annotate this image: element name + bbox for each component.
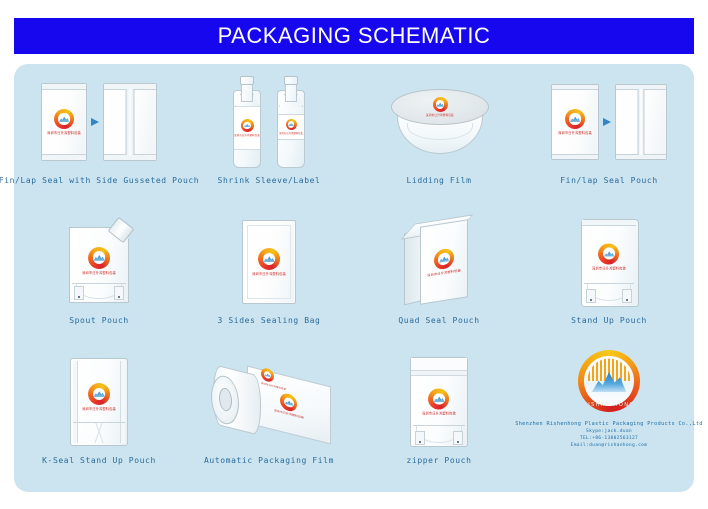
corner-notch-left <box>415 431 425 445</box>
logo-mountain-icon <box>434 396 445 402</box>
illustration-stand-up-pouch: 深圳市日升鸿塑料包装 <box>524 208 694 316</box>
pouch-back-face <box>103 83 157 161</box>
logo-mountain-icon <box>285 399 294 406</box>
product-caption: Fin/Lap Seal with Side Gusseted Pouch <box>0 176 199 185</box>
logo-caption: 深圳市日升鸿塑料包装 <box>234 133 260 137</box>
product-cell-fin-lap-side-gusseted[interactable]: 深圳市日升鸿塑料包装 Fin/Lap Seal with Side Gusset… <box>14 68 184 208</box>
logo-ring-icon <box>433 97 448 112</box>
shrink-sleeve: 深圳市日升鸿塑料包装 <box>234 106 260 150</box>
product-cell-spout-pouch[interactable]: 深圳市日升鸿塑料包装 Spout Pouch <box>14 208 184 348</box>
illustration-fin-lap-seal-pouch: 深圳市日升鸿塑料包装 <box>524 68 694 176</box>
product-grid: 深圳市日升鸿塑料包装 Fin/Lap Seal with Side Gusset… <box>14 68 694 488</box>
product-caption: Automatic Packaging Film <box>204 456 334 465</box>
brand-logo: 深圳市日升鸿塑料包装 <box>426 97 454 117</box>
k-seal-pouch-shape: 深圳市日升鸿塑料包装 <box>70 358 128 446</box>
product-cell-shrink-sleeve-label[interactable]: 深圳市日升鸿塑料包装 深圳市日升鸿塑料包装 <box>184 68 354 208</box>
logo-mountain-icon <box>59 116 69 122</box>
product-cell-zipper-pouch[interactable]: 深圳市日升鸿塑料包装 zipper Pouch <box>354 348 524 488</box>
product-cell-quad-seal-pouch[interactable]: 深圳市日升鸿塑料包装 Quad Seal Pouch <box>354 208 524 348</box>
logo-mountain-icon <box>439 255 449 263</box>
logo-ring-icon <box>241 119 254 132</box>
logo-mountain-icon <box>288 123 294 126</box>
illustration-spout-pouch: 深圳市日升鸿塑料包装 <box>14 208 184 316</box>
illustration-three-sides-sealing-bag: 深圳市日升鸿塑料包装 <box>184 208 354 316</box>
logo-mountain-icon <box>244 124 251 128</box>
bowl-with-lidding-film: 深圳市日升鸿塑料包装 <box>391 89 487 155</box>
bottle-neck <box>285 82 297 102</box>
logo-caption: 深圳市日升鸿塑料包装 <box>252 271 286 276</box>
logo-ring-icon <box>54 109 74 129</box>
product-cell-three-sides-sealing-bag[interactable]: 深圳市日升鸿塑料包装 3 Sides Sealing Bag <box>184 208 354 348</box>
product-cell-stand-up-pouch[interactable]: 深圳市日升鸿塑料包装 Stand Up Pouch <box>524 208 694 348</box>
brand-logo: 深圳市日升鸿塑料包装 <box>558 109 592 135</box>
pouch-front-face: 深圳市日升鸿塑料包装 <box>420 219 468 305</box>
logo-mountain-icon <box>436 102 444 107</box>
brand-logo: 深圳市日升鸿塑料包装 <box>252 248 286 276</box>
product-caption: 3 Sides Sealing Bag <box>218 316 321 325</box>
header-banner: PACKAGING SCHEMATIC <box>14 18 694 54</box>
emblem-brand-text: RISHAN HONG <box>578 402 640 408</box>
logo-ring-icon <box>88 383 110 405</box>
pouch-front-face: 深圳市日升鸿塑料包装 <box>41 83 87 161</box>
product-caption: Quad Seal Pouch <box>398 316 479 325</box>
logo-mountain-icon <box>570 116 580 122</box>
product-caption: Stand Up Pouch <box>571 316 647 325</box>
logo-mountain-icon <box>93 390 104 397</box>
stand-up-pouch-shape: 深圳市日升鸿塑料包装 <box>581 219 637 305</box>
bottle-with-label: 深圳市日升鸿塑料包装 <box>277 76 305 168</box>
bottle-cap <box>284 76 298 85</box>
brand-logo: 深圳市日升鸿塑料包装 <box>82 383 116 411</box>
schematic-panel: 深圳市日升鸿塑料包装 Fin/Lap Seal with Side Gusset… <box>14 64 694 492</box>
logo-ring-icon <box>599 243 620 264</box>
logo-ring-icon <box>286 119 297 130</box>
corner-notch-right <box>114 286 124 300</box>
lidding-film-seal: 深圳市日升鸿塑料包装 <box>391 89 489 125</box>
bottle-cap <box>240 76 254 85</box>
logo-caption: 深圳市日升鸿塑料包装 <box>82 406 116 411</box>
zipper-pouch-shape: 深圳市日升鸿塑料包装 <box>410 357 468 447</box>
spout-pouch-shape: 深圳市日升鸿塑料包装 <box>69 221 129 303</box>
logo-caption: 深圳市日升鸿塑料包装 <box>592 265 626 270</box>
product-cell-lidding-film[interactable]: 深圳市日升鸿塑料包装 Lidding Film <box>354 68 524 208</box>
logo-caption: 深圳市日升鸿塑料包装 <box>47 130 81 135</box>
top-seal-band <box>42 84 86 90</box>
company-tel: TEL:+86-13802563127 <box>580 436 638 441</box>
company-email: Email:duan@rishanhong.com <box>571 443 648 448</box>
arrow-right-icon <box>603 118 611 126</box>
corner-notch-left <box>586 289 596 303</box>
brand-logo: 深圳市日升鸿塑料包装 <box>422 389 456 416</box>
top-seal-band <box>552 85 598 90</box>
brand-logo: 深圳市日升鸿塑料包装 <box>234 119 260 137</box>
logo-mountain-icon <box>264 372 271 378</box>
product-caption: Lidding Film <box>407 176 472 185</box>
brand-logo: 深圳市日升鸿塑料包装 <box>274 390 304 419</box>
arrow-right-icon <box>91 118 99 126</box>
bottom-seal-band <box>42 154 86 160</box>
logo-caption: 深圳市日升鸿塑料包装 <box>279 131 303 135</box>
company-name: Shenzhen Rishenhong Plastic Packaging Pr… <box>515 421 703 427</box>
illustration-shrink-sleeve-label: 深圳市日升鸿塑料包装 深圳市日升鸿塑料包装 <box>184 68 354 176</box>
bottle-label-band: 深圳市日升鸿塑料包装 <box>278 114 304 140</box>
product-caption: Spout Pouch <box>69 316 129 325</box>
product-caption: zipper Pouch <box>407 456 472 465</box>
logo-ring-icon <box>565 109 585 129</box>
brand-logo: 深圳市日升鸿塑料包装 <box>47 109 81 135</box>
top-seal-band <box>582 220 636 226</box>
film-roll-shape: 深圳市日升鸿塑料包装 深圳市日升鸿塑料包装 <box>209 362 329 442</box>
product-cell-automatic-packaging-film[interactable]: 深圳市日升鸿塑料包装 深圳市日升鸿塑料包装 Automatic Packagin… <box>184 348 354 488</box>
illustration-automatic-packaging-film: 深圳市日升鸿塑料包装 深圳市日升鸿塑料包装 <box>184 348 354 456</box>
logo-caption: 深圳市日升鸿塑料包装 <box>558 130 592 135</box>
process-arrow-wrap <box>599 118 615 126</box>
brand-logo: 深圳市日升鸿塑料包装 <box>427 246 461 277</box>
logo-caption: 深圳市日升鸿塑料包装 <box>426 113 454 117</box>
bottle-with-shrink-sleeve: 深圳市日升鸿塑料包装 <box>233 76 261 168</box>
logo-caption: 深圳市日升鸿塑料包装 <box>82 270 116 275</box>
product-caption: Fin/lap Seal Pouch <box>560 176 658 185</box>
logo-ring-icon <box>88 247 110 269</box>
bottle-neck <box>241 82 253 102</box>
logo-ring-icon <box>429 389 450 410</box>
corner-notch-right <box>622 289 632 303</box>
logo-mountain-icon <box>604 251 615 257</box>
three-side-seal-bag-shape: 深圳市日升鸿塑料包装 <box>242 220 296 304</box>
logo-mountain-icon <box>263 256 274 263</box>
corner-notch-right <box>453 431 463 445</box>
logo-mountain-icon <box>93 254 104 261</box>
pouch-back-face <box>615 84 667 160</box>
logo-ring-icon <box>434 247 454 270</box>
brand-logo: 深圳市日升鸿塑料包装 <box>279 119 303 135</box>
product-cell-k-seal-stand-up-pouch[interactable]: 深圳市日升鸿塑料包装 K-Seal Stand Up Pouch <box>14 348 184 488</box>
zipper-track <box>411 370 467 376</box>
product-cell-fin-lap-seal-pouch[interactable]: 深圳市日升鸿塑料包装 Fin/lap Seal Pouch <box>524 68 694 208</box>
illustration-quad-seal-pouch: 深圳市日升鸿塑料包装 <box>354 208 524 316</box>
illustration-zipper-pouch: 深圳市日升鸿塑料包装 <box>354 348 524 456</box>
product-caption: K-Seal Stand Up Pouch <box>42 456 156 465</box>
pouch-front-face: 深圳市日升鸿塑料包装 <box>551 84 599 160</box>
k-seal-bottom <box>73 422 125 443</box>
center-seam <box>126 89 135 155</box>
process-arrow-wrap <box>87 118 103 126</box>
product-caption: Shrink Sleeve/Label <box>218 176 321 185</box>
illustration-lidding-film: 深圳市日升鸿塑料包装 <box>354 68 524 176</box>
corner-notch-left <box>74 286 84 300</box>
quad-seal-pouch-shape: 深圳市日升鸿塑料包装 <box>404 219 474 305</box>
company-info-block: RISHAN HONG Shenzhen Rishenhong Plastic … <box>524 348 694 488</box>
brand-logo: 深圳市日升鸿塑料包装 <box>592 243 626 270</box>
logo-caption: 深圳市日升鸿塑料包装 <box>422 411 456 416</box>
company-skype: Skype:jack.duan <box>586 429 632 434</box>
illustration-fin-lap-side-gusseted: 深圳市日升鸿塑料包装 <box>14 68 184 176</box>
fin-seal <box>638 89 645 155</box>
brand-logo: 深圳市日升鸿塑料包装 <box>82 247 116 275</box>
company-emblem-logo: RISHAN HONG <box>578 350 640 412</box>
page-title: PACKAGING SCHEMATIC <box>218 23 491 49</box>
bottom-seal-band <box>552 154 598 159</box>
logo-ring-icon <box>258 248 280 270</box>
illustration-k-seal-stand-up-pouch: 深圳市日升鸿塑料包装 <box>14 348 184 456</box>
